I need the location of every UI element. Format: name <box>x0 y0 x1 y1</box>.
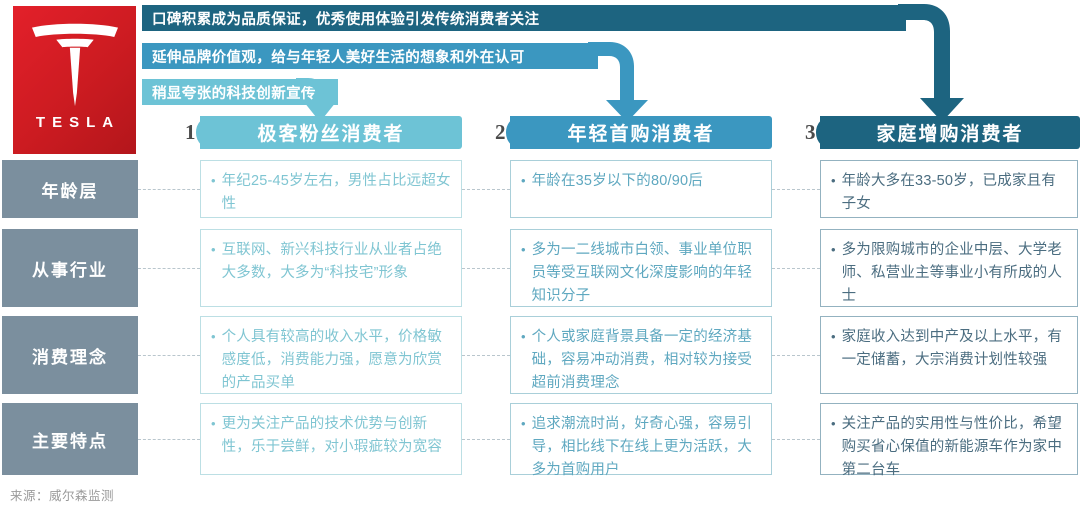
cell-text-r0-c2: 年龄大多在33-50岁，已成家且有子女 <box>842 170 1067 216</box>
bullet-icon: • <box>831 413 836 435</box>
cell-text-r0-c0: 年纪25-45岁左右，男性占比远超女性 <box>222 170 451 216</box>
bullet-icon: • <box>831 239 836 261</box>
column-title-3: 家庭增购消费者 <box>876 119 1023 146</box>
bullet-icon: • <box>211 326 216 348</box>
row-label-traits: 主要特点 <box>2 403 138 475</box>
connector-dash-2c <box>772 355 820 356</box>
cell-r3-c1: • 追求潮流时尚，好奇心强，容易引导，相比线下在线上更为活跃，大多为首购用户 <box>510 403 772 475</box>
connector-dash-1c <box>772 268 820 269</box>
cell-r2-c1: • 个人或家庭背景具备一定的经济基础，容易冲动消费，相对较为接受超前消费理念 <box>510 316 772 394</box>
cell-r0-c2: • 年龄大多在33-50岁，已成家且有子女 <box>820 160 1078 218</box>
row-label-text-0: 年龄层 <box>42 177 99 202</box>
connector-dash-3a <box>138 439 200 440</box>
banner-text-2: 延伸品牌价值观，给与年轻人美好生活的想象和外在认可 <box>152 46 525 67</box>
bullet-icon: • <box>521 413 526 435</box>
connector-dash-2a <box>138 355 200 356</box>
connector-dash-0a <box>138 189 200 190</box>
elbow-arrow-down-icon-3 <box>898 4 974 122</box>
connector-dash-0c <box>772 189 820 190</box>
tesla-t-mark-icon <box>28 22 122 108</box>
tesla-wordmark: TESLA <box>29 114 120 131</box>
cell-text-r1-c0: 互联网、新兴科技行业从业者占绝大多数，大多为“科技宅”形象 <box>222 239 451 285</box>
cell-r3-c0: • 更为关注产品的技术优势与创新性，乐于尝鲜，对小瑕疵较为宽容 <box>200 403 462 475</box>
column-header-1[interactable]: 极客粉丝消费者 <box>200 116 462 149</box>
cell-text-r1-c1: 多为一二线城市白领、事业单位职员等受互联网文化深度影响的年轻知识分子 <box>532 239 761 308</box>
row-label-text-2: 消费理念 <box>32 343 108 368</box>
cell-r0-c1: • 年龄在35岁以下的80/90后 <box>510 160 772 218</box>
cell-r2-c0: • 个人具有较高的收入水平，价格敏感度低，消费能力强，愿意为欣赏的产品买单 <box>200 316 462 394</box>
bullet-icon: • <box>521 239 526 261</box>
cell-r1-c2: • 多为限购城市的企业中层、大学老师、私营业主等事业小有所成的人士 <box>820 229 1078 307</box>
elbow-arrow-down-icon-2 <box>588 42 658 122</box>
tesla-logo: TESLA <box>13 6 136 154</box>
connector-dash-3b <box>462 439 510 440</box>
row-label-text-1: 从事行业 <box>32 256 108 281</box>
cell-text-r2-c1: 个人或家庭背景具备一定的经济基础，容易冲动消费，相对较为接受超前消费理念 <box>532 326 761 395</box>
column-title-1: 极客粉丝消费者 <box>257 119 404 146</box>
cell-text-r1-c2: 多为限购城市的企业中层、大学老师、私营业主等事业小有所成的人士 <box>842 239 1067 308</box>
bullet-icon: • <box>831 326 836 348</box>
source-note: 来源：威尔森监测 <box>10 485 114 504</box>
banner-bar-2: 延伸品牌价值观，给与年轻人美好生活的想象和外在认可 <box>142 43 598 69</box>
banner-bar-1: 口碑积累成为品质保证，优秀使用体验引发传统消费者关注 <box>142 5 906 31</box>
connector-dash-3c <box>772 439 820 440</box>
banner-text-1: 口碑积累成为品质保证，优秀使用体验引发传统消费者关注 <box>152 8 539 29</box>
column-number-1: 1 <box>185 117 219 148</box>
connector-dash-0b <box>462 189 510 190</box>
connector-dash-2b <box>462 355 510 356</box>
cell-text-r3-c2: 关注产品的实用性与性价比，希望购买省心保值的新能源车作为家中第二台车 <box>842 413 1067 482</box>
column-title-2: 年轻首购消费者 <box>567 119 714 146</box>
cell-r1-c0: • 互联网、新兴科技行业从业者占绝大多数，大多为“科技宅”形象 <box>200 229 462 307</box>
cell-r3-c2: • 关注产品的实用性与性价比，希望购买省心保值的新能源车作为家中第二台车 <box>820 403 1078 475</box>
infographic-canvas: TESLA 口碑积累成为品质保证，优秀使用体验引发传统消费者关注 延伸品牌价值观… <box>0 0 1080 512</box>
cell-r1-c1: • 多为一二线城市白领、事业单位职员等受互联网文化深度影响的年轻知识分子 <box>510 229 772 307</box>
cell-text-r3-c0: 更为关注产品的技术优势与创新性，乐于尝鲜，对小瑕疵较为宽容 <box>222 413 451 459</box>
connector-dash-1a <box>138 268 200 269</box>
row-label-industry: 从事行业 <box>2 229 138 307</box>
column-number-3: 3 <box>805 117 839 148</box>
cell-text-r0-c1: 年龄在35岁以下的80/90后 <box>532 170 703 193</box>
row-label-text-3: 主要特点 <box>32 427 108 452</box>
cell-text-r2-c2: 家庭收入达到中产及以上水平，有一定储蓄，大宗消费计划性较强 <box>842 326 1067 372</box>
connector-dash-1b <box>462 268 510 269</box>
column-header-3[interactable]: 家庭增购消费者 <box>820 116 1080 149</box>
row-label-philosophy: 消费理念 <box>2 316 138 394</box>
bullet-icon: • <box>521 170 526 192</box>
banner-text-3: 稍显夸张的科技创新宣传 <box>152 82 316 103</box>
bullet-icon: • <box>211 239 216 261</box>
bullet-icon: • <box>831 170 836 192</box>
cell-r2-c2: • 家庭收入达到中产及以上水平，有一定储蓄，大宗消费计划性较强 <box>820 316 1078 394</box>
cell-r0-c0: • 年纪25-45岁左右，男性占比远超女性 <box>200 160 462 218</box>
column-header-2[interactable]: 年轻首购消费者 <box>510 116 772 149</box>
column-number-2: 2 <box>495 117 529 148</box>
bullet-icon: • <box>521 326 526 348</box>
bullet-icon: • <box>211 413 216 435</box>
row-label-age: 年龄层 <box>2 160 138 218</box>
bullet-icon: • <box>211 170 216 192</box>
cell-text-r3-c1: 追求潮流时尚，好奇心强，容易引导，相比线下在线上更为活跃，大多为首购用户 <box>532 413 761 482</box>
cell-text-r2-c0: 个人具有较高的收入水平，价格敏感度低，消费能力强，愿意为欣赏的产品买单 <box>222 326 451 395</box>
